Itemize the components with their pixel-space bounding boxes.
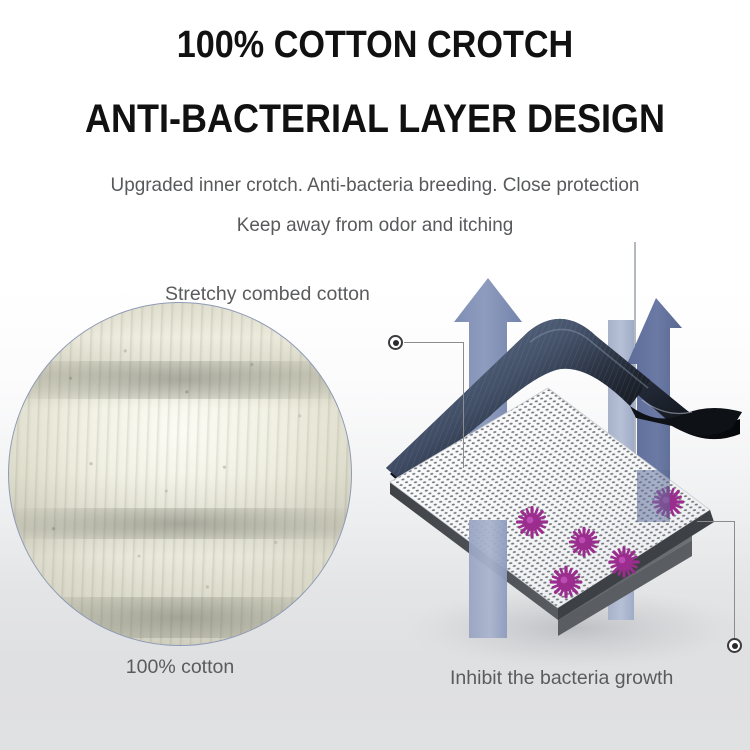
leader-line-left-horizontal (404, 342, 464, 343)
fabric-layer-diagram (380, 238, 750, 668)
subtitle-line-2: Keep away from odor and itching (11, 212, 739, 238)
bullseye-marker-icon-left (388, 335, 403, 350)
promo-banner: 100% COTTON CROTCH ANTI-BACTERIAL LAYER … (0, 0, 750, 750)
leader-line-right-horizontal (697, 521, 735, 522)
caption-cotton: 100% cotton (55, 656, 305, 679)
page-title-primary: 100% COTTON CROTCH (38, 22, 713, 68)
page-title-secondary: ANTI-BACTERIAL LAYER DESIGN (38, 95, 713, 143)
caption-inhibit-bacteria-growth: Inhibit the bacteria growth (450, 667, 740, 690)
cotton-fabric-photo (8, 302, 352, 646)
leader-line-right-vertical (734, 521, 735, 641)
bullseye-marker-icon-right (727, 638, 742, 653)
up-arrow-icon-bottom-tail (469, 520, 507, 638)
fabric-texture-overlay (9, 303, 351, 645)
subtitle-line-1: Upgraded inner crotch. Anti-bacteria bre… (11, 172, 739, 198)
up-arrow-icon-right-lower-tail (637, 470, 670, 522)
leader-line-left-vertical (463, 342, 464, 468)
